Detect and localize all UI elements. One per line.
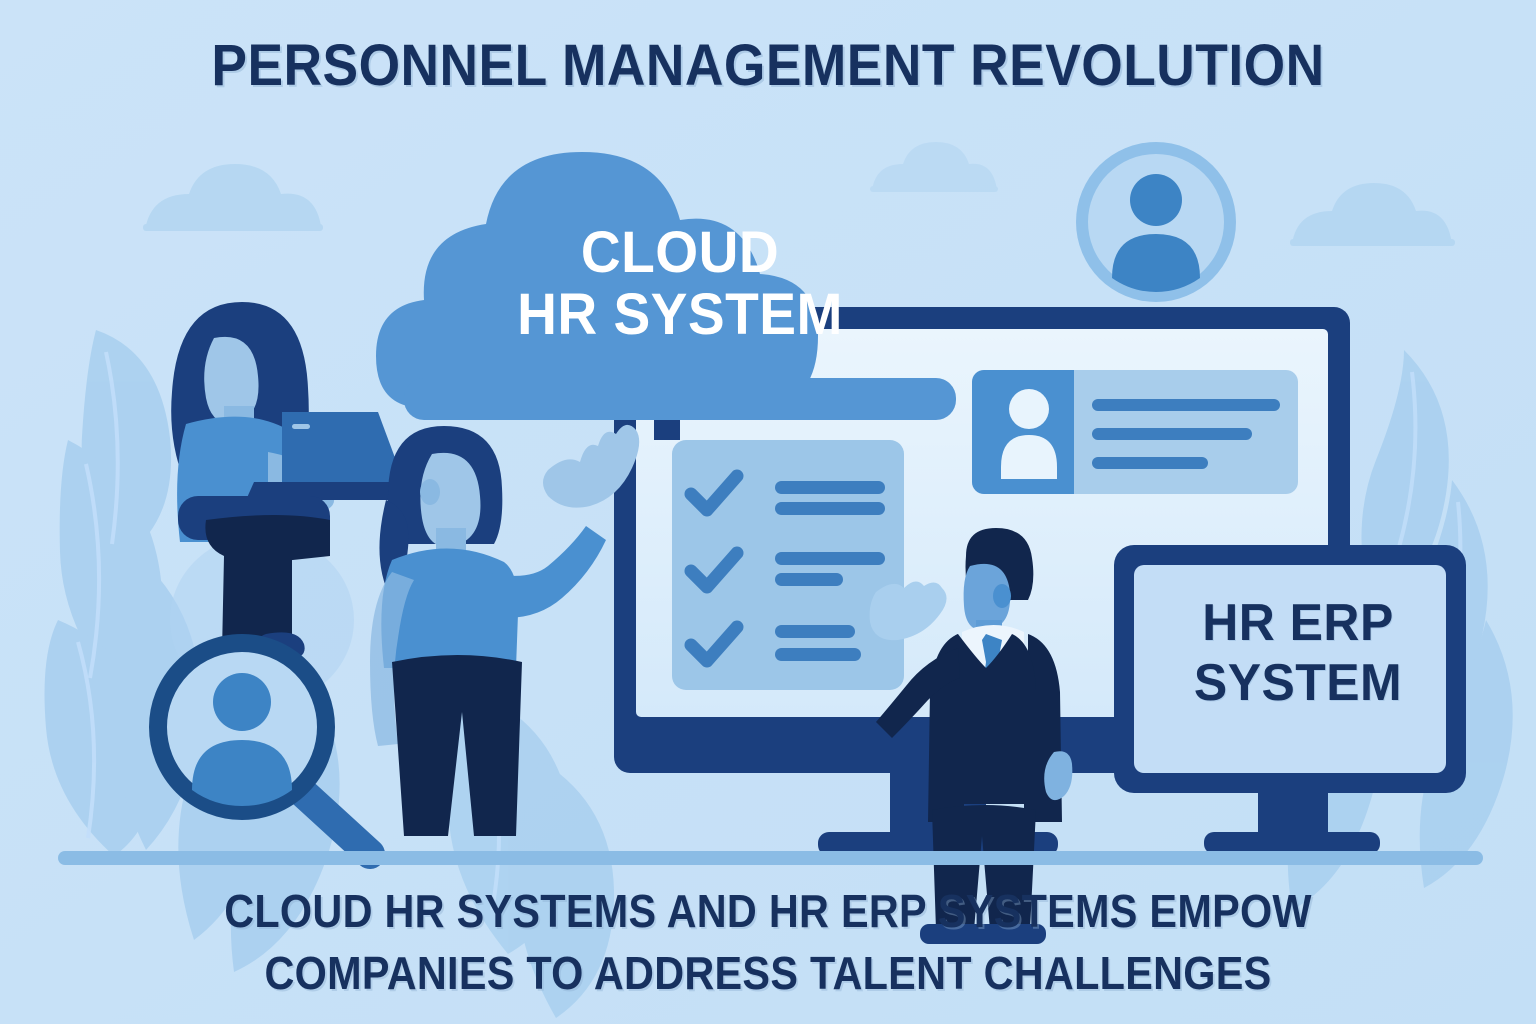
- monitor-erp-screen: [1134, 565, 1446, 773]
- id-card-line: [1092, 399, 1280, 411]
- main-illustration-layer: [0, 0, 1536, 1024]
- ground-line: [58, 851, 1483, 865]
- monitor-icon-erp[interactable]: [1114, 545, 1466, 854]
- checklist-line: [775, 481, 885, 494]
- id-card-line: [1092, 428, 1252, 440]
- cloud-base: [404, 378, 956, 420]
- checklist-line: [775, 502, 885, 515]
- ear: [420, 479, 440, 505]
- cloud-shape: [376, 152, 818, 408]
- magnifier-handle: [300, 790, 370, 854]
- person-search-icon[interactable]: [158, 643, 370, 854]
- user-avatar-icon-badge[interactable]: [1076, 142, 1236, 302]
- checklist-line: [775, 625, 855, 638]
- pants: [392, 655, 522, 836]
- person-head: [213, 673, 271, 731]
- laptop-logo: [292, 424, 310, 429]
- ear: [993, 584, 1011, 608]
- checklist-card[interactable]: [672, 440, 904, 690]
- id-card-icon[interactable]: [972, 370, 1298, 494]
- checklist-line: [775, 573, 843, 586]
- laptop-lid: [282, 412, 404, 482]
- illustration-canvas: PERSONNEL MANAGEMENT REVOLUTION CLOUD HR…: [0, 0, 1536, 1024]
- checklist-line: [775, 552, 885, 565]
- page-title: PERSONNEL MANAGEMENT REVOLUTION: [61, 36, 1474, 96]
- id-card-line: [1092, 457, 1208, 469]
- woman-standing-pointing: [370, 425, 639, 836]
- leg-right: [258, 556, 292, 642]
- caption-line-1: CLOUD HR SYSTEMS AND HR ERP SYSTEMS EMPO…: [77, 880, 1459, 942]
- checklist-line: [775, 648, 861, 661]
- avatar-head: [1130, 174, 1182, 226]
- caption-line-2: COMPANIES TO ADDRESS TALENT CHALLENGES: [77, 942, 1459, 1004]
- cloud-icon-main[interactable]: [376, 152, 956, 440]
- page-caption: CLOUD HR SYSTEMS AND HR ERP SYSTEMS EMPO…: [77, 880, 1459, 1004]
- monitor-erp-stand-neck: [1258, 786, 1328, 836]
